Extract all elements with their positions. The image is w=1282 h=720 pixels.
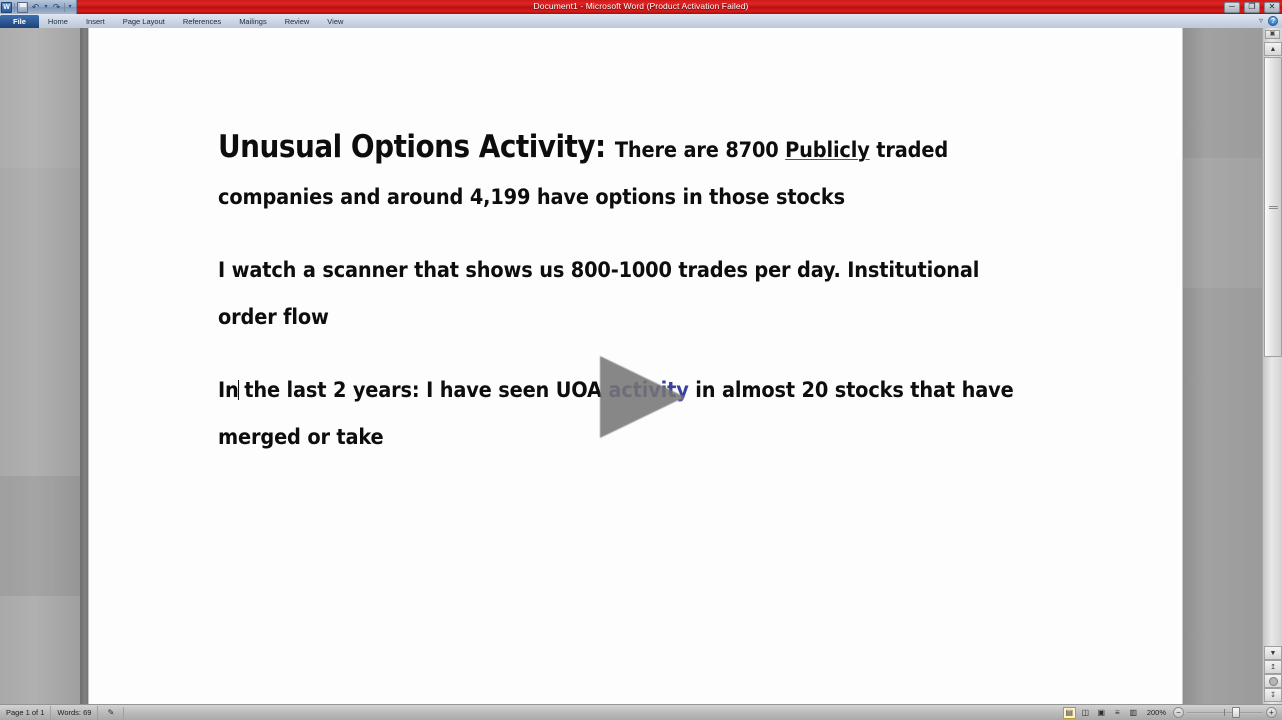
tab-review[interactable]: Review [276, 15, 319, 28]
zoom-slider[interactable] [1187, 707, 1263, 718]
word-count[interactable]: Words: 69 [51, 706, 98, 720]
document-body[interactable]: Unusual Options Activity: There are 8700… [218, 124, 1032, 471]
title-bar: W ↶ ▾ ↷ ▾ Document1 - Microsoft Word (Pr… [0, 0, 1282, 14]
select-browse-object-button[interactable] [1264, 674, 1282, 688]
left-shadow-strip [80, 28, 89, 704]
status-bar: Page 1 of 1 Words: 69 ✎ ▤ ◫ ▣ ≡ ▥ 200% −… [0, 704, 1282, 720]
minimize-button[interactable]: ─ [1224, 2, 1240, 13]
print-layout-view-button[interactable]: ▤ [1063, 707, 1076, 719]
window-title: Document1 - Microsoft Word (Product Acti… [0, 1, 1282, 11]
word-window: W ↶ ▾ ↷ ▾ Document1 - Microsoft Word (Pr… [0, 0, 1282, 720]
ribbon-tab-strip: File Home Insert Page Layout References … [0, 14, 1282, 29]
paragraph-2[interactable]: I watch a scanner that shows us 800-1000… [218, 247, 1032, 341]
scrollbar-grip [1269, 206, 1278, 211]
highlighted-word[interactable]: activity [608, 378, 688, 403]
expand-ribbon-icon[interactable]: ▿ [1259, 17, 1263, 25]
paragraph-3-run-2: the last 2 years: I have seen UOA [238, 378, 609, 403]
paragraph-3[interactable]: In the last 2 years: I have seen UOA act… [218, 367, 1032, 461]
previous-page-button[interactable]: ↥ [1264, 660, 1282, 674]
scroll-down-button[interactable]: ▼ [1264, 646, 1282, 660]
document-page[interactable]: Unusual Options Activity: There are 8700… [89, 28, 1182, 704]
page-indicator[interactable]: Page 1 of 1 [0, 706, 51, 720]
paragraph-3-run-1: In [218, 378, 239, 403]
tab-page-layout[interactable]: Page Layout [114, 15, 174, 28]
paragraph-2-text: I watch a scanner that shows us 800-1000… [218, 258, 979, 330]
web-layout-view-button[interactable]: ▣ [1095, 707, 1108, 719]
ribbon-right-controls: ▿ ? [1259, 14, 1282, 28]
help-icon[interactable]: ? [1268, 16, 1278, 26]
zoom-in-button[interactable]: + [1266, 707, 1277, 718]
close-button[interactable]: ✕ [1264, 2, 1280, 13]
window-controls: ─ ❐ ✕ [1224, 0, 1280, 14]
proofing-errors-icon[interactable]: ✎ [98, 707, 124, 719]
tab-home[interactable]: Home [39, 15, 77, 28]
full-screen-reading-view-button[interactable]: ◫ [1079, 707, 1092, 719]
split-window-handle[interactable]: ▣ [1265, 30, 1280, 39]
zoom-slider-thumb[interactable] [1232, 707, 1240, 718]
heading-run-2: There are 8700 [615, 138, 785, 163]
paragraph-1[interactable]: Unusual Options Activity: There are 8700… [218, 124, 1032, 221]
tab-view[interactable]: View [318, 15, 352, 28]
draft-view-button[interactable]: ▥ [1127, 707, 1140, 719]
zoom-level-label[interactable]: 200% [1143, 708, 1170, 717]
document-heading: Unusual Options Activity: [218, 129, 615, 165]
scroll-up-button[interactable]: ▲ [1264, 42, 1282, 56]
restore-button[interactable]: ❐ [1244, 2, 1260, 13]
spelling-error-word[interactable]: Publicly [785, 138, 870, 163]
tab-insert[interactable]: Insert [77, 15, 114, 28]
tab-file[interactable]: File [0, 15, 39, 28]
scrollbar-thumb[interactable] [1264, 57, 1282, 357]
tab-references[interactable]: References [174, 15, 230, 28]
status-bar-right: ▤ ◫ ▣ ≡ ▥ 200% − + [1063, 707, 1282, 719]
zoom-out-button[interactable]: − [1173, 707, 1184, 718]
workspace-left-margin [0, 28, 88, 704]
document-workspace: Unusual Options Activity: There are 8700… [0, 28, 1282, 704]
vertical-scrollbar[interactable]: ▣ ▲ ▼ ↥ ↧ [1262, 28, 1282, 704]
tab-mailings[interactable]: Mailings [230, 15, 276, 28]
outline-view-button[interactable]: ≡ [1111, 707, 1124, 719]
zoom-slider-midpoint [1224, 709, 1225, 716]
next-page-button[interactable]: ↧ [1264, 688, 1282, 702]
browse-object-icon [1269, 677, 1278, 686]
workspace-right-margin [1182, 28, 1262, 704]
